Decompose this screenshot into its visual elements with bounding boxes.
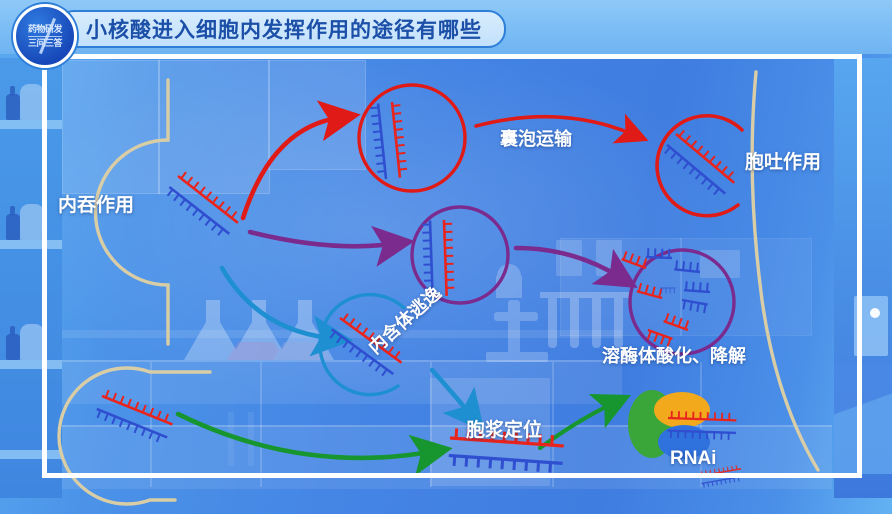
logo-line-1: 药物研发 (28, 25, 62, 34)
arrow-purple-to-endosome (250, 232, 392, 246)
label-endocytosis: 内吞作用 (58, 190, 134, 217)
cell-membrane-lower (59, 368, 210, 504)
rna-strand-lower-membrane (94, 389, 176, 445)
rna-strand-in-red-vesicle (370, 101, 408, 180)
title-pill: 小核酸进入细胞内发挥作用的途径有哪些 (56, 10, 506, 48)
label-lysosome-degradation: 溶酶体酸化、降解 (602, 342, 746, 368)
arrow-blue-endosome-escape (222, 268, 330, 338)
label-vesicle-transport: 囊泡运输 (500, 125, 572, 151)
arrow-red-endocytosis (243, 118, 338, 218)
label-exocytosis: 胞吐作用 (745, 147, 821, 174)
vesicle-exocytosis-open (657, 116, 742, 216)
vesicle-red (359, 85, 465, 191)
rna-strand-in-exocytosis-vesicle (662, 128, 740, 200)
page-title: 小核酸进入细胞内发挥作用的途径有哪些 (86, 14, 482, 44)
label-rnai: RNAi (670, 448, 716, 470)
brand-logo[interactable]: 药物研发 三问三答 (13, 4, 77, 68)
screenshot-root: 内吞作用 囊泡运输 胞吐作用 内含体逃逸 溶酶体酸化、降解 胞浆定位 RNAi … (0, 0, 892, 514)
pathway-diagram (0, 0, 892, 514)
lysosome-vesicle (630, 250, 734, 354)
arrow-blue-to-cytoplasm (432, 370, 470, 414)
arrow-green-direct-cytoplasm (178, 414, 430, 458)
label-cytoplasmic-localization: 胞浆定位 (466, 415, 542, 442)
rna-strand-at-membrane (164, 170, 242, 240)
cell-membrane-right (752, 72, 818, 470)
lysosome-fragments (622, 248, 711, 347)
arrow-purple-to-lysosome (516, 248, 618, 276)
header-bar: 小核酸进入细胞内发挥作用的途径有哪些 药物研发 三问三答 (0, 0, 892, 54)
